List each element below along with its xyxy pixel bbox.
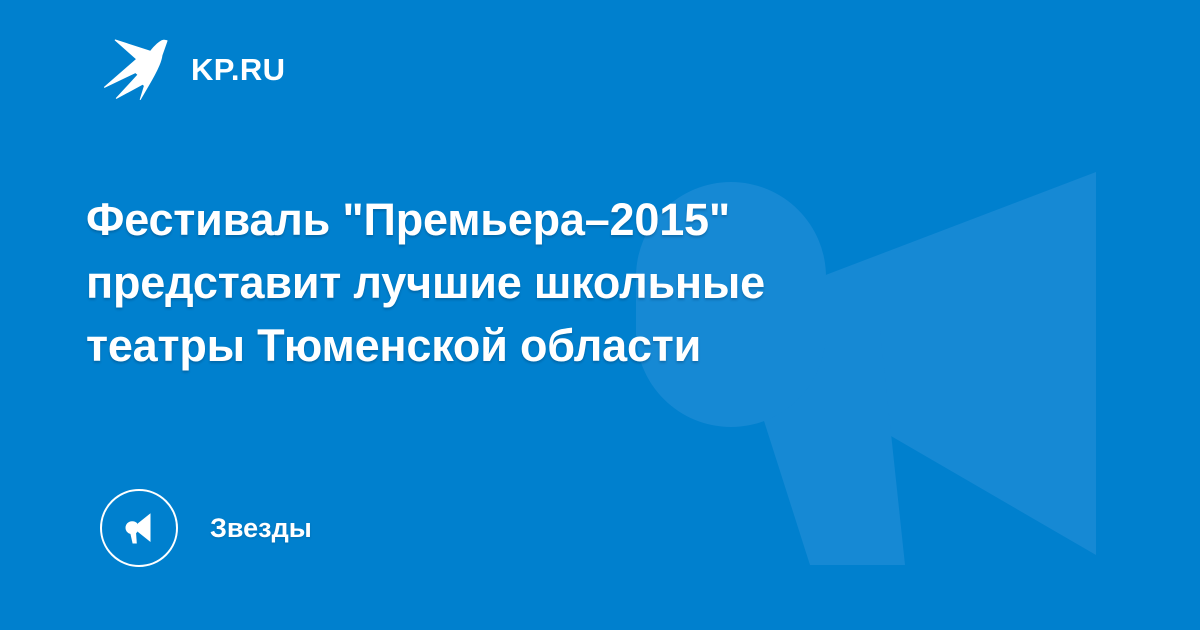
category-badge[interactable]: Звезды xyxy=(100,489,312,567)
social-share-card: KP.RU Фестиваль "Премьера–2015" представ… xyxy=(0,0,1200,630)
brand-header[interactable]: KP.RU xyxy=(103,36,285,102)
page-title: Фестиваль "Премьера–2015" представит луч… xyxy=(86,188,986,377)
brand-name: KP.RU xyxy=(191,54,285,85)
swallow-bird-icon xyxy=(103,38,169,100)
category-label: Звезды xyxy=(210,515,312,542)
headline-line-1: Фестиваль "Премьера–2015" xyxy=(86,188,986,251)
headline-line-2: представит лучшие школьные xyxy=(86,251,986,314)
megaphone-icon xyxy=(100,489,178,567)
headline-line-3: театры Тюменской области xyxy=(86,314,986,377)
